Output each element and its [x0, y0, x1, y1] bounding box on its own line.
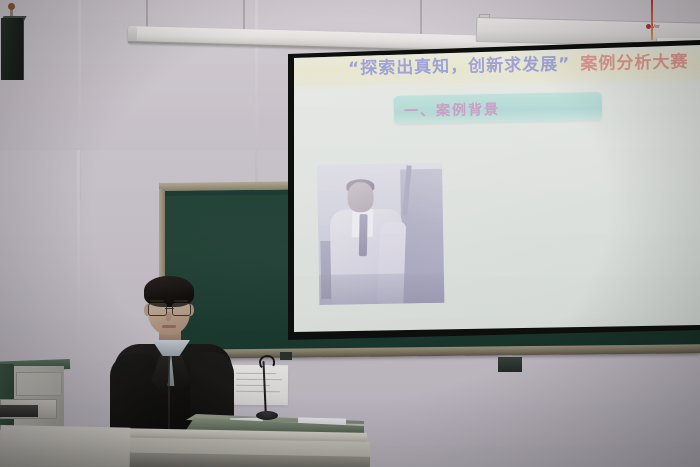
ledge-bracket-right [498, 357, 522, 372]
presenter-eyebrow-right [174, 300, 188, 302]
cabinet-door-panel [16, 372, 62, 396]
paper-notice [232, 365, 288, 406]
glasses-lens-left [148, 303, 167, 316]
banner-event-text: 案例分析大赛 [580, 52, 688, 74]
ledge-bracket-left [280, 352, 292, 360]
logo-dot-icon [646, 24, 651, 29]
wall-speaker [1, 18, 24, 80]
cabinet-side-panel [0, 364, 14, 430]
front-desk-surface [0, 425, 130, 467]
slide-section-box: 一、案例背景 [394, 92, 602, 124]
slide-embedded-photo [317, 163, 444, 305]
presenter-mouth [162, 325, 176, 328]
projector-brand-logo: Ver [646, 24, 660, 30]
wall-seam-lower [77, 150, 80, 365]
slide-section-heading: 一、案例背景 [404, 99, 500, 121]
presenter-eyebrow-left [150, 300, 164, 302]
ceiling-hang-wire [651, 0, 653, 40]
speaker-screw [8, 3, 15, 10]
logo-text: Ver [652, 24, 660, 30]
presenter-hair-fringe [144, 284, 194, 298]
glasses-lens-right [172, 303, 191, 316]
presenter-nose [166, 312, 171, 321]
cabinet-recess [0, 405, 38, 417]
projection-screen-surface[interactable]: “探索出真知，创新求发展”案例分析大赛 一、案例背景 [294, 45, 700, 332]
microphone-base [256, 411, 278, 420]
classroom-presentation-photo: Ver “探索出真知，创新求发展”案例分析大赛 一、案例背景 [0, 0, 700, 467]
